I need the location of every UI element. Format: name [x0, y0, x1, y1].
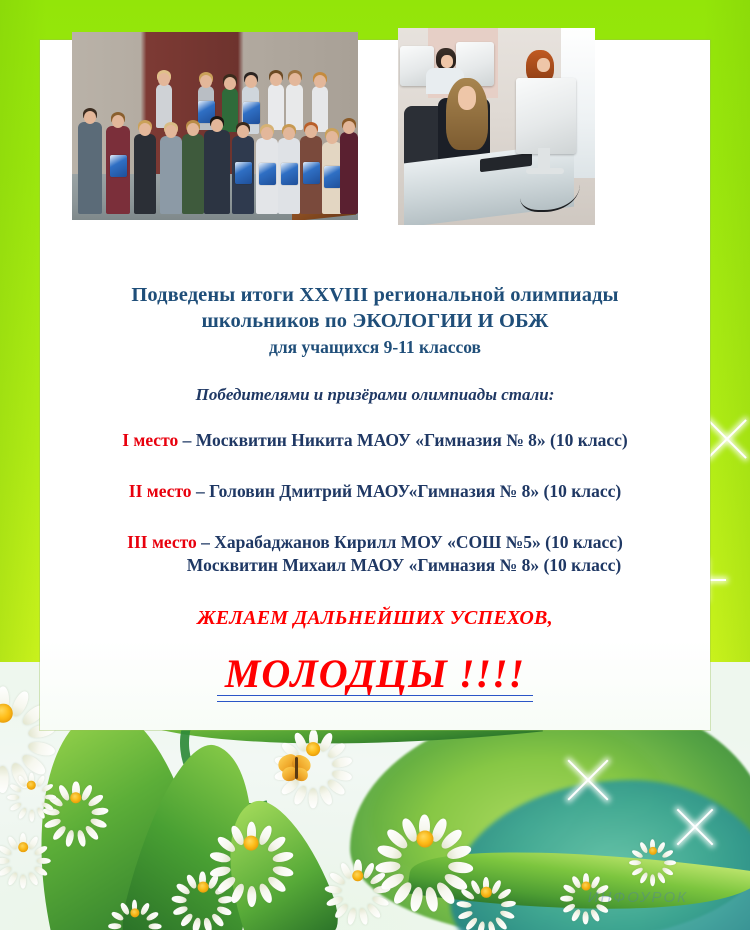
daisy-petal — [664, 860, 676, 865]
certificate — [243, 102, 260, 124]
photo-person-head — [224, 77, 236, 90]
photo-person — [256, 138, 278, 214]
photo-person-head — [270, 73, 282, 86]
certificate — [110, 155, 127, 177]
daisy-flower-icon — [18, 772, 45, 799]
daisy-petal — [148, 923, 161, 929]
daisy-core — [18, 842, 28, 852]
photo-person-head — [289, 73, 301, 86]
photo-person-head — [237, 125, 249, 138]
photo-person-head — [158, 73, 170, 86]
photo-person-head — [187, 123, 199, 136]
wish-text: ЖЕЛАЕМ ДАЛЬНЕЙШИХ УСПЕХОВ, — [40, 607, 710, 630]
subheading: Победителями и призёрами олимпиады стали… — [40, 385, 710, 405]
lab-main-monitor — [516, 78, 576, 154]
photo-person — [106, 126, 130, 214]
winner-name-2: Головин Дмитрий МАОУ«Гимназия № 8» (10 к… — [209, 481, 621, 501]
daisy-flower-icon — [58, 780, 94, 816]
daisy-flower-icon — [398, 812, 451, 865]
bravo-wrap: МОЛОДЦЫ !!!! — [40, 652, 710, 702]
place-label-2: II место — [129, 481, 192, 501]
daisy-core — [27, 781, 36, 790]
photo-person — [300, 136, 322, 214]
daisy-core — [481, 887, 491, 897]
daisy-petal — [639, 841, 649, 854]
winner-name-3: Харабаджанов Кирилл МОУ «СОШ №5» (10 кла… — [214, 532, 623, 552]
daisy-core — [70, 792, 82, 804]
place-label-3: III место — [127, 532, 197, 552]
photo-person — [204, 130, 230, 214]
photo-row — [72, 27, 598, 227]
photo-person-head — [112, 115, 124, 128]
winner-row-2: II место – Головин Дмитрий МАОУ«Гимназия… — [40, 480, 710, 503]
photo-person — [340, 132, 358, 214]
photo-person — [322, 142, 342, 214]
photo-person — [268, 84, 284, 130]
photo-person — [182, 134, 204, 214]
page-title-line3: для учащихся 9-11 классов — [40, 335, 710, 359]
photo-person-head — [84, 111, 96, 124]
photo-person-head — [261, 127, 273, 140]
lab-student-face — [537, 58, 550, 72]
photo-person-head — [211, 119, 223, 132]
photo-person-head — [245, 75, 257, 88]
winner-name-1: Москвитин Никита МАОУ «Гимназия № 8» (10… — [196, 430, 628, 450]
dash-1: – — [178, 430, 196, 450]
poster-text: Подведены итоги XXVIII региональной олим… — [40, 282, 710, 702]
winner-name-3b: Москвитин Михаил МАОУ «Гимназия № 8» (10… — [40, 554, 710, 577]
bravo-text: МОЛОДЦЫ !!!! — [225, 652, 525, 702]
certificate — [235, 162, 252, 184]
daisy-core — [197, 881, 208, 892]
page-title-line2: школьников по ЭКОЛОГИИ И ОБЖ — [40, 308, 710, 334]
winner-row-3: III место – Харабаджанов Кирилл МОУ «СОШ… — [40, 531, 710, 577]
photo-person — [78, 122, 102, 214]
photo-person-head — [326, 131, 338, 144]
photo-person — [232, 136, 254, 214]
daisy-core — [352, 870, 364, 882]
photo-person — [160, 136, 182, 214]
daisy-petal — [560, 896, 573, 902]
page-title-line1: Подведены итоги XXVIII региональной олим… — [40, 282, 710, 308]
photo-person — [134, 134, 156, 214]
daisy-core — [416, 830, 433, 847]
daisy-flower-icon — [0, 684, 32, 742]
daisy-core — [244, 836, 259, 851]
daisy-flower-icon — [340, 858, 376, 894]
photo-person-head — [139, 123, 151, 136]
certificate — [324, 166, 341, 188]
daisy-petal — [29, 810, 34, 822]
photo-person-head — [165, 125, 177, 138]
certificate — [281, 163, 298, 185]
dash-3: – — [197, 532, 215, 552]
photo-person-head — [283, 127, 295, 140]
group-photo — [72, 32, 358, 220]
winner-row-1: I место – Москвитин Никита МАОУ «Гимнази… — [40, 429, 710, 452]
daisy-flower-icon — [120, 898, 149, 927]
certificate — [303, 162, 320, 184]
daisy-core — [130, 908, 139, 917]
lab-student-face — [441, 55, 453, 68]
certificate — [259, 163, 276, 185]
daisy-petal — [108, 923, 121, 929]
watermark-text: ИНФОУРОК — [588, 889, 688, 906]
daisy-petal — [629, 860, 641, 865]
dash-2: – — [192, 481, 210, 501]
daisy-core — [649, 847, 657, 855]
daisy-petal — [119, 901, 131, 915]
photo-person — [278, 138, 300, 214]
daisy-flower-icon — [640, 838, 666, 864]
photo-person-head — [343, 121, 355, 134]
photo-person-head — [305, 125, 317, 138]
photo-person-head — [314, 75, 326, 88]
poster-root: ИНФОУРОК — [0, 0, 750, 930]
photo-person-head — [200, 75, 212, 88]
daisy-flower-icon — [228, 820, 274, 866]
daisy-flower-icon — [8, 832, 38, 862]
butterfly-icon — [278, 755, 314, 785]
daisy-flower-icon — [470, 876, 502, 908]
lab-main-student-face — [458, 86, 476, 110]
computer-lab-photo — [398, 28, 595, 225]
daisy-petal — [247, 886, 256, 907]
daisy-core — [0, 704, 12, 723]
place-label-1: I место — [122, 430, 178, 450]
